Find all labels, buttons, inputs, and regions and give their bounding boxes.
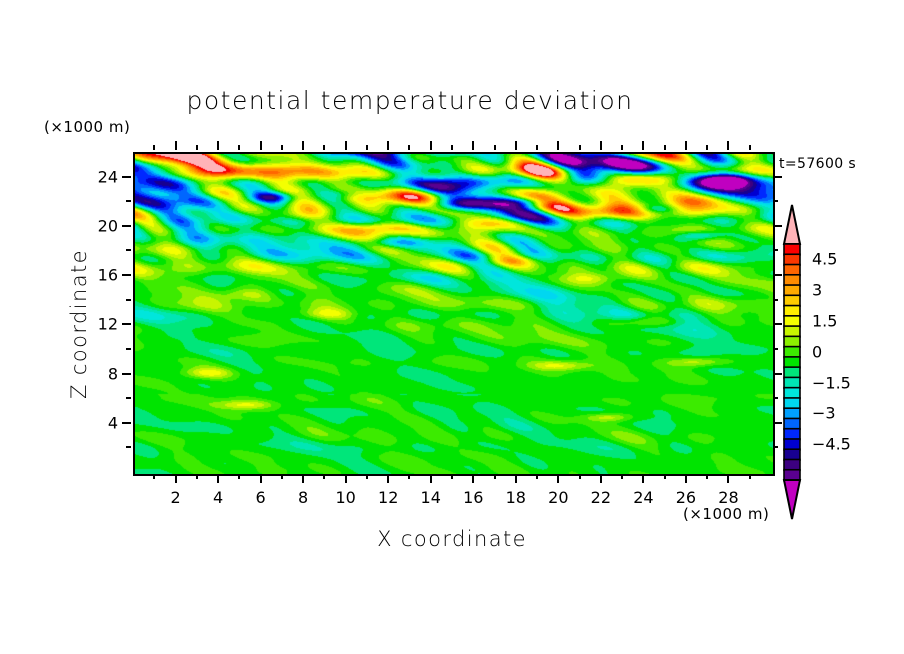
colorbar-label-4: −1.5 — [812, 373, 851, 392]
tick-x-top-15 — [451, 145, 453, 150]
colorbar-segment-22 — [784, 470, 800, 481]
x-tick-label-2: 2 — [170, 488, 180, 507]
tick-y-10 — [126, 348, 131, 350]
colorbar-segment-19 — [784, 439, 800, 450]
figure-canvas: potential temperature deviation (×1000 m… — [0, 0, 904, 654]
x-tick-label-20: 20 — [548, 488, 568, 507]
tick-y-8 — [122, 373, 131, 375]
tick-y-12 — [122, 323, 131, 325]
tick-x-1 — [153, 474, 155, 479]
tick-x-23 — [621, 474, 623, 479]
tick-x-top-25 — [664, 145, 666, 150]
tick-x-top-7 — [281, 145, 283, 150]
tick-x-top-20 — [557, 141, 559, 150]
tick-x-top-4 — [217, 141, 219, 150]
tick-x-top-29 — [749, 145, 751, 150]
tick-x-top-2 — [175, 141, 177, 150]
tick-y-right-2 — [773, 446, 778, 448]
colorbar-segment-15 — [784, 398, 800, 409]
x-tick-label-10: 10 — [335, 488, 355, 507]
colorbar-segment-21 — [784, 459, 800, 470]
tick-x-top-21 — [579, 145, 581, 150]
tick-x-2 — [175, 474, 177, 483]
tick-y-right-24 — [773, 176, 782, 178]
colorbar-segment-2 — [784, 265, 800, 276]
tick-y-right-14 — [773, 299, 778, 301]
tick-y-2 — [126, 446, 131, 448]
tick-y-6 — [126, 397, 131, 399]
tick-x-top-1 — [153, 145, 155, 150]
tick-y-24 — [122, 176, 131, 178]
colorbar-segment-11 — [784, 357, 800, 368]
colorbar-over-arrow — [784, 205, 800, 244]
tick-x-20 — [557, 474, 559, 483]
tick-x-14 — [430, 474, 432, 483]
x-tick-label-14: 14 — [421, 488, 441, 507]
tick-y-4 — [122, 422, 131, 424]
tick-x-21 — [579, 474, 581, 479]
tick-x-top-9 — [323, 145, 325, 150]
colorbar-segment-20 — [784, 449, 800, 460]
tick-x-13 — [408, 474, 410, 479]
tick-x-top-14 — [430, 141, 432, 150]
x-tick-label-16: 16 — [463, 488, 483, 507]
potential-temperature-field — [135, 154, 773, 474]
tick-x-26 — [685, 474, 687, 483]
tick-y-right-6 — [773, 397, 778, 399]
tick-x-27 — [706, 474, 708, 479]
tick-x-4 — [217, 474, 219, 483]
colorbar-segment-8 — [784, 326, 800, 337]
tick-x-9 — [323, 474, 325, 479]
tick-x-12 — [387, 474, 389, 483]
tick-x-11 — [366, 474, 368, 479]
colorbar-segment-10 — [784, 347, 800, 358]
tick-x-top-22 — [600, 141, 602, 150]
y-axis-units-label: (×1000 m) — [44, 118, 130, 136]
colorbar-segment-1 — [784, 254, 800, 265]
colorbar-segment-14 — [784, 388, 800, 399]
tick-x-top-24 — [642, 141, 644, 150]
x-tick-label-8: 8 — [298, 488, 308, 507]
tick-x-7 — [281, 474, 283, 479]
tick-x-16 — [472, 474, 474, 483]
x-tick-label-24: 24 — [633, 488, 653, 507]
tick-x-28 — [727, 474, 729, 483]
tick-x-top-6 — [260, 141, 262, 150]
tick-x-top-5 — [238, 145, 240, 150]
x-axis-units-label: (×1000 m) — [683, 505, 769, 523]
tick-x-top-16 — [472, 141, 474, 150]
tick-x-top-3 — [196, 145, 198, 150]
tick-x-top-11 — [366, 145, 368, 150]
x-tick-label-6: 6 — [256, 488, 266, 507]
colorbar-segment-7 — [784, 316, 800, 327]
colorbar — [779, 204, 805, 520]
tick-x-25 — [664, 474, 666, 479]
colorbar-segment-3 — [784, 275, 800, 286]
tick-x-5 — [238, 474, 240, 479]
colorbar-label-6: −4.5 — [812, 435, 851, 454]
tick-x-top-26 — [685, 141, 687, 150]
colorbar-segment-18 — [784, 429, 800, 440]
x-tick-label-12: 12 — [378, 488, 398, 507]
colorbar-under-arrow — [784, 480, 800, 519]
tick-x-29 — [749, 474, 751, 479]
tick-x-top-28 — [727, 141, 729, 150]
tick-x-6 — [260, 474, 262, 483]
y-tick-label-24: 24 — [63, 167, 118, 186]
tick-y-right-22 — [773, 200, 778, 202]
colorbar-label-3: 0 — [812, 342, 822, 361]
colorbar-label-0: 4.5 — [812, 250, 837, 269]
tick-x-15 — [451, 474, 453, 479]
tick-y-14 — [126, 299, 131, 301]
time-annotation: t=57600 s — [779, 156, 856, 172]
x-tick-label-18: 18 — [506, 488, 526, 507]
page-title: potential temperature deviation — [0, 86, 820, 115]
colorbar-segment-16 — [784, 408, 800, 419]
colorbar-swatches — [779, 204, 805, 520]
tick-x-22 — [600, 474, 602, 483]
tick-x-8 — [302, 474, 304, 483]
colorbar-label-1: 3 — [812, 281, 822, 300]
colorbar-segment-12 — [784, 367, 800, 378]
y-axis-title: Z coordinate — [67, 214, 91, 434]
tick-y-20 — [122, 225, 131, 227]
colorbar-segment-9 — [784, 336, 800, 347]
tick-x-top-27 — [706, 145, 708, 150]
tick-x-top-19 — [536, 145, 538, 150]
colorbar-segment-17 — [784, 418, 800, 429]
tick-x-18 — [515, 474, 517, 483]
colorbar-segment-0 — [784, 244, 800, 255]
tick-x-top-23 — [621, 145, 623, 150]
tick-y-right-10 — [773, 348, 778, 350]
tick-x-top-17 — [494, 145, 496, 150]
colorbar-segment-6 — [784, 306, 800, 317]
x-tick-label-22: 22 — [591, 488, 611, 507]
tick-x-top-10 — [345, 141, 347, 150]
tick-y-22 — [126, 200, 131, 202]
tick-x-3 — [196, 474, 198, 479]
tick-x-top-13 — [408, 145, 410, 150]
tick-x-top-8 — [302, 141, 304, 150]
tick-x-top-12 — [387, 141, 389, 150]
colorbar-label-5: −3 — [812, 404, 836, 423]
colorbar-segment-5 — [784, 295, 800, 306]
colorbar-segment-13 — [784, 377, 800, 388]
colorbar-label-2: 1.5 — [812, 311, 837, 330]
tick-x-24 — [642, 474, 644, 483]
tick-y-16 — [122, 274, 131, 276]
colorbar-segment-4 — [784, 285, 800, 296]
tick-y-18 — [126, 249, 131, 251]
tick-x-19 — [536, 474, 538, 479]
tick-x-10 — [345, 474, 347, 483]
contour-plot-area — [133, 152, 775, 476]
tick-x-17 — [494, 474, 496, 479]
tick-y-right-18 — [773, 249, 778, 251]
tick-x-top-18 — [515, 141, 517, 150]
x-tick-label-4: 4 — [213, 488, 223, 507]
x-axis-title: X coordinate — [133, 527, 771, 551]
